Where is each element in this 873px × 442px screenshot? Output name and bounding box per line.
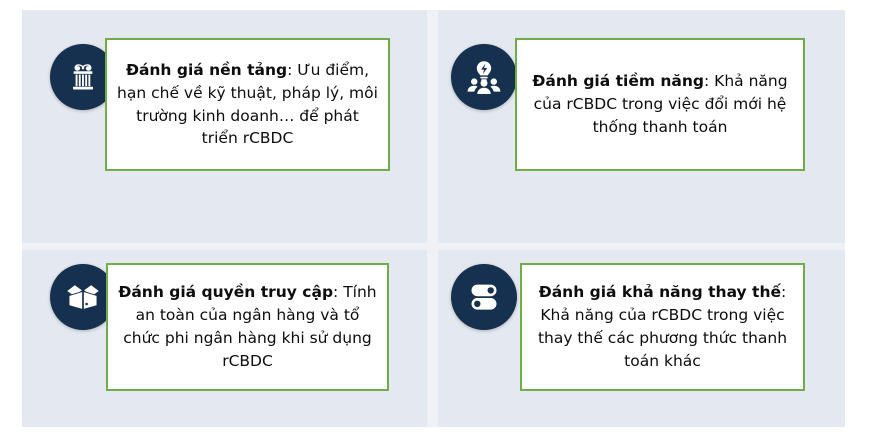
toggle-switches-icon bbox=[451, 264, 517, 330]
card-assess-substitutability: Đánh giá khả năng thay thế: Khả năng của… bbox=[520, 263, 805, 391]
card-assess-potential: Đánh giá tiềm năng: Khả năng của rCBDC t… bbox=[515, 38, 805, 171]
horizontal-divider bbox=[22, 243, 845, 250]
card-assess-foundation: Đánh giá nền tảng: Ưu điểm, hạn chế về k… bbox=[105, 38, 390, 171]
card-title: Đánh giá quyền truy cập bbox=[118, 283, 333, 301]
quadrant-assess-access-rights: Đánh giá quyền truy cập: Tính an toàn củ… bbox=[22, 250, 427, 427]
card-separator: : bbox=[287, 61, 297, 79]
card-title: Đánh giá nền tảng bbox=[126, 61, 287, 79]
quadrant-assess-substitutability: Đánh giá khả năng thay thế: Khả năng của… bbox=[438, 250, 845, 427]
card-text: Đánh giá nền tảng: Ưu điểm, hạn chế về k… bbox=[117, 59, 378, 150]
card-assess-access-rights: Đánh giá quyền truy cập: Tính an toàn củ… bbox=[106, 263, 389, 391]
card-text: Đánh giá tiềm năng: Khả năng của rCBDC t… bbox=[527, 70, 793, 138]
quadrant-assess-potential: Đánh giá tiềm năng: Khả năng của rCBDC t… bbox=[438, 10, 845, 243]
card-separator: : bbox=[704, 72, 714, 90]
card-separator: : bbox=[781, 283, 786, 301]
card-text: Đánh giá khả năng thay thế: Khả năng của… bbox=[532, 281, 793, 372]
quadrant-assess-foundation: Đánh giá nền tảng: Ưu điểm, hạn chế về k… bbox=[22, 10, 427, 243]
vertical-divider bbox=[427, 10, 438, 427]
card-body: Khả năng của rCBDC trong việc thay thế c… bbox=[538, 306, 787, 370]
assessment-matrix-diagram: Đánh giá nền tảng: Ưu điểm, hạn chế về k… bbox=[0, 0, 873, 442]
lightbulb-people-icon bbox=[451, 44, 517, 110]
card-text: Đánh giá quyền truy cập: Tính an toàn củ… bbox=[118, 281, 377, 372]
card-title: Đánh giá khả năng thay thế bbox=[539, 283, 781, 301]
card-separator: : bbox=[333, 283, 343, 301]
card-title: Đánh giá tiềm năng bbox=[532, 72, 704, 90]
